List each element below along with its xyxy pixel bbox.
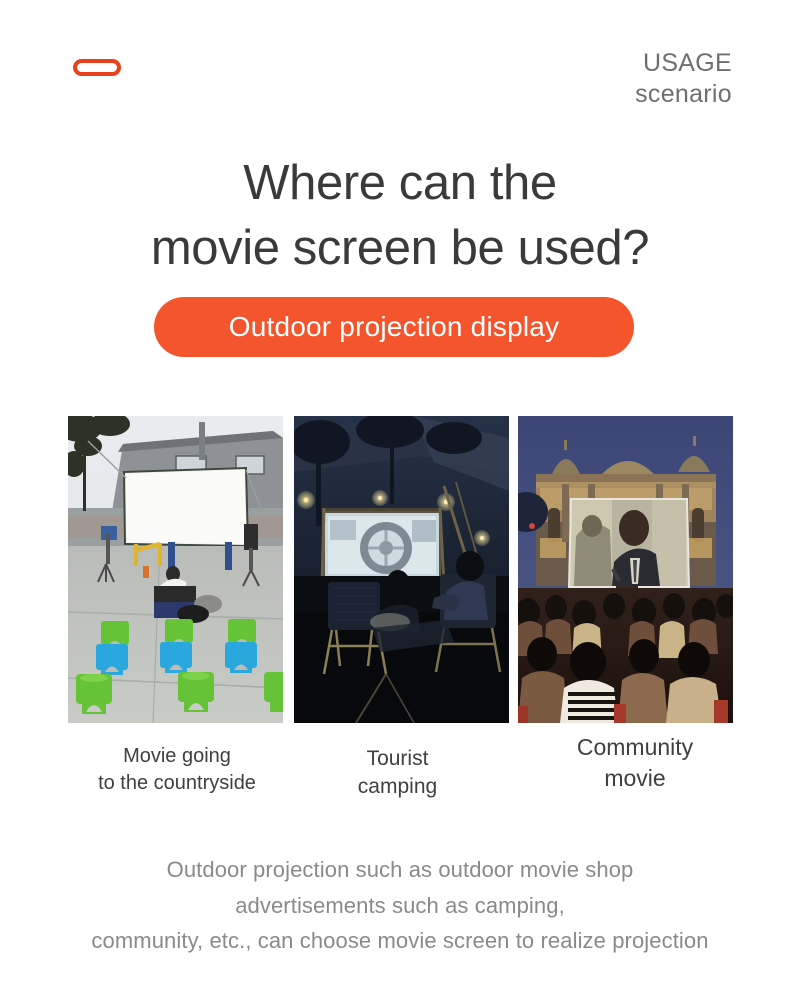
page-title: Where can the movie screen be used? <box>0 151 800 281</box>
caption-camping: Tourist camping <box>290 745 505 802</box>
photo-captions: Movie going to the countryside Tourist c… <box>0 723 800 813</box>
description-line-1: Outdoor projection such as outdoor movie… <box>0 852 800 888</box>
description-paragraph: Outdoor projection such as outdoor movie… <box>0 852 800 959</box>
eyebrow-label: USAGE scenario <box>635 48 732 110</box>
page-title-line-1: Where can the <box>0 151 800 216</box>
description-line-2: advertisements such as camping, <box>0 888 800 924</box>
photo-community-image <box>518 416 733 723</box>
photo-community-screening[interactable] <box>518 416 733 723</box>
caption-community-line-1: Community <box>520 732 750 763</box>
eyebrow-line-2: scenario <box>635 79 732 110</box>
photo-camping-screening[interactable] <box>294 416 509 723</box>
pill-decoration-icon <box>73 59 121 76</box>
outdoor-projection-display-button[interactable]: Outdoor projection display <box>154 297 634 357</box>
description-line-3: community, etc., can choose movie screen… <box>0 923 800 959</box>
caption-camping-line-1: Tourist <box>290 745 505 773</box>
page-title-line-2: movie screen be used? <box>0 216 800 281</box>
caption-community-line-2: movie <box>520 763 750 794</box>
caption-countryside-line-1: Movie going <box>62 743 292 770</box>
eyebrow-line-1: USAGE <box>643 49 732 77</box>
photo-countryside-image <box>68 416 283 723</box>
caption-countryside: Movie going to the countryside <box>62 743 292 797</box>
photo-countryside-screening[interactable] <box>68 416 283 723</box>
photo-camping-image <box>294 416 509 723</box>
caption-countryside-line-2: to the countryside <box>62 770 292 797</box>
caption-camping-line-2: camping <box>290 773 505 801</box>
caption-community: Community movie <box>520 732 750 794</box>
usage-scenario-banner: USAGE scenario Where can the movie scree… <box>0 0 800 986</box>
photo-gallery <box>68 416 733 723</box>
